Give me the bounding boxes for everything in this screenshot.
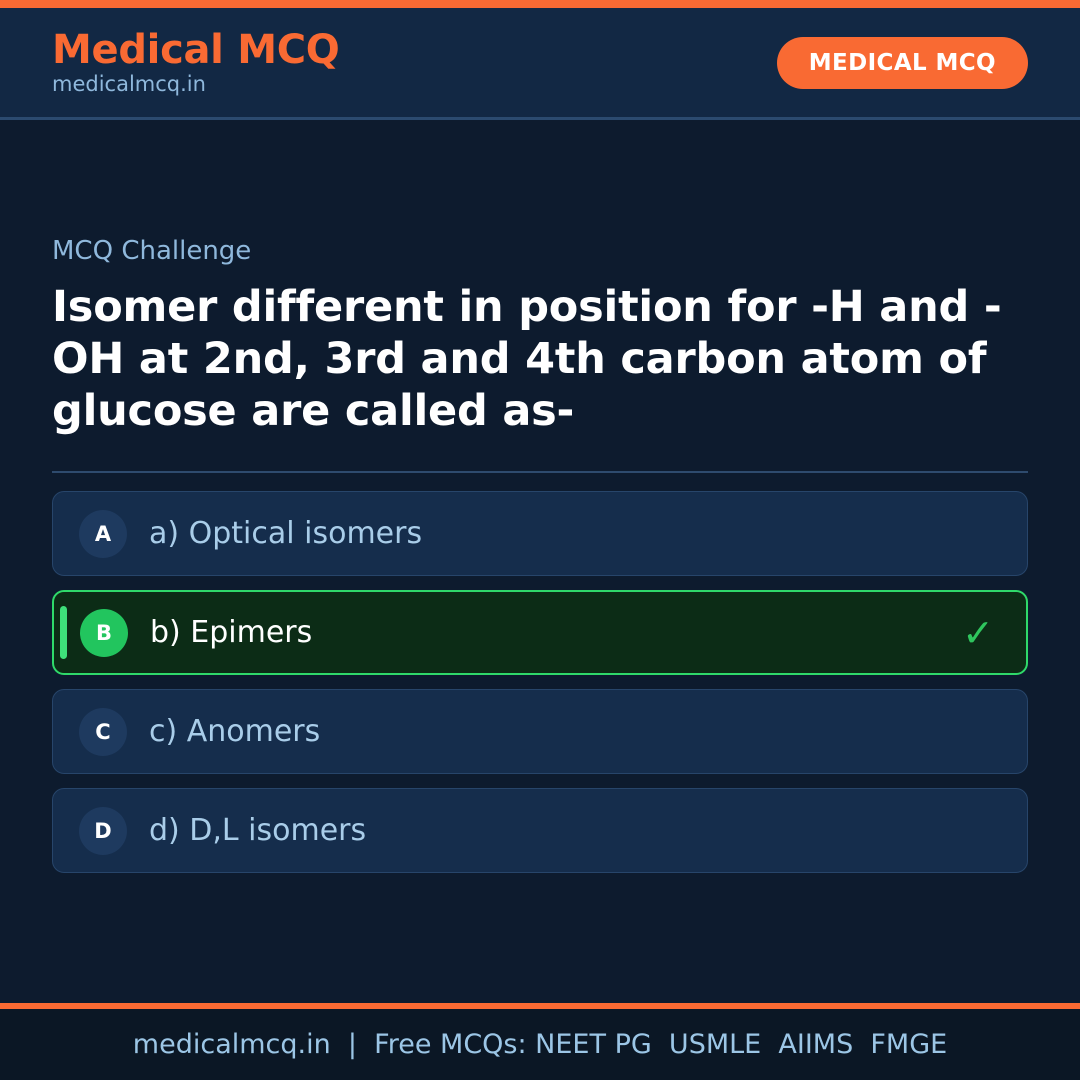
option-label-b: b) Epimers	[150, 615, 312, 651]
check-icon: ✓	[962, 614, 1000, 652]
footer-text: medicalmcq.in | Free MCQs: NEET PG USMLE…	[133, 1029, 947, 1060]
brand-block: Medical MCQ medicalmcq.in	[52, 29, 339, 96]
top-accent-bar	[0, 0, 1080, 8]
question-divider	[52, 471, 1028, 473]
option-badge-b: B	[80, 609, 128, 657]
page-header: Medical MCQ medicalmcq.in MEDICAL MCQ	[0, 8, 1080, 120]
options-list: A a) Optical isomers B b) Epimers ✓ C c)…	[52, 491, 1028, 873]
option-badge-c: C	[79, 708, 127, 756]
page-footer: medicalmcq.in | Free MCQs: NEET PG USMLE…	[0, 1009, 1080, 1080]
brand-title: Medical MCQ	[52, 29, 339, 71]
correct-accent-bar	[60, 606, 67, 659]
main-content: MCQ Challenge Isomer different in positi…	[0, 123, 1080, 1003]
option-label-c: c) Anomers	[149, 714, 320, 750]
section-kicker: MCQ Challenge	[52, 236, 1028, 267]
option-c[interactable]: C c) Anomers	[52, 689, 1028, 774]
header-badge[interactable]: MEDICAL MCQ	[777, 37, 1028, 89]
option-label-a: a) Optical isomers	[149, 516, 422, 552]
option-badge-a: A	[79, 510, 127, 558]
option-a[interactable]: A a) Optical isomers	[52, 491, 1028, 576]
option-badge-d: D	[79, 807, 127, 855]
option-label-d: d) D,L isomers	[149, 813, 366, 849]
brand-url: medicalmcq.in	[52, 73, 339, 96]
option-d[interactable]: D d) D,L isomers	[52, 788, 1028, 873]
option-b[interactable]: B b) Epimers ✓	[52, 590, 1028, 675]
question-text: Isomer different in position for -H and …	[52, 281, 1028, 437]
